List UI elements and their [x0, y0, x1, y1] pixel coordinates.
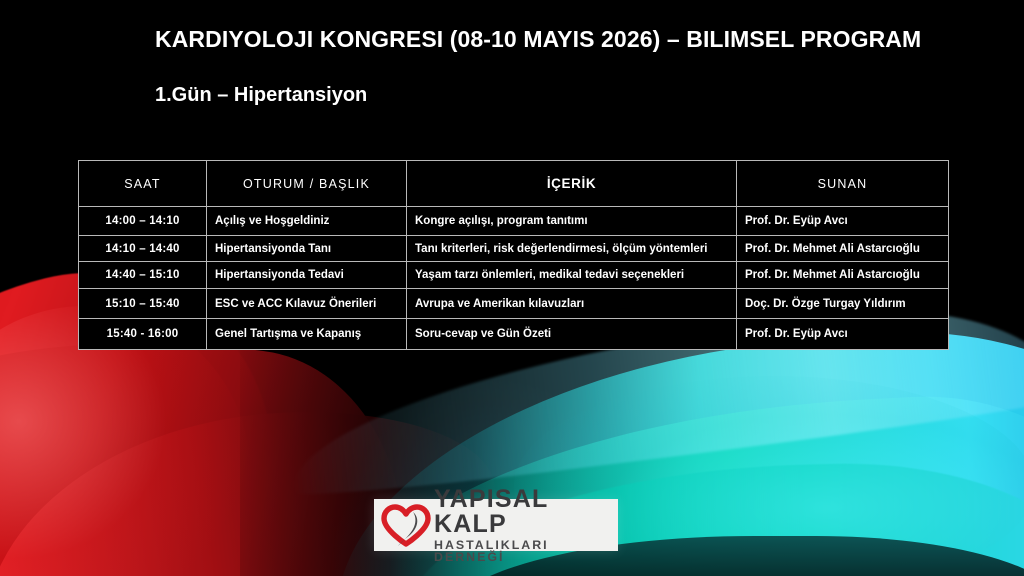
cell-speaker: Doç. Dr. Özge Turgay Yıldırım: [737, 289, 949, 319]
cell-content: Soru-cevap ve Gün Özeti: [407, 319, 737, 350]
cell-session: Genel Tartışma ve Kapanış: [207, 319, 407, 350]
table-row: 15:40 - 16:00 Genel Tartışma ve Kapanış …: [79, 319, 949, 350]
cell-speaker: Prof. Dr. Eyüp Avcı: [737, 207, 949, 236]
cell-session: Hipertansiyonda Tanı: [207, 236, 407, 262]
slide-subtitle: 1.Gün – Hipertansiyon: [155, 84, 367, 107]
logo-title: YAPISAL KALP: [434, 487, 618, 537]
cell-speaker: Prof. Dr. Mehmet Ali Astarcıoğlu: [737, 236, 949, 262]
table-header-row: SAAT OTURUM / BAŞLIK İÇERİK SUNAN: [79, 161, 949, 207]
table-header: SAAT OTURUM / BAŞLIK İÇERİK SUNAN: [79, 161, 949, 207]
cell-time: 14:40 – 15:10: [79, 262, 207, 289]
logo-subtitle: HASTALIKLARI DERNEĞİ: [434, 539, 618, 564]
cell-speaker: Prof. Dr. Mehmet Ali Astarcıoğlu: [737, 262, 949, 289]
cell-session: Hipertansiyonda Tedavi: [207, 262, 407, 289]
cell-content: Avrupa ve Amerikan kılavuzları: [407, 289, 737, 319]
table-row: 14:40 – 15:10 Hipertansiyonda Tedavi Yaş…: [79, 262, 949, 289]
organization-logo: YAPISAL KALP HASTALIKLARI DERNEĞİ: [374, 499, 618, 551]
column-header-session: OTURUM / BAŞLIK: [207, 161, 407, 207]
cell-session: ESC ve ACC Kılavuz Önerileri: [207, 289, 407, 319]
column-header-speaker: SUNAN: [737, 161, 949, 207]
cell-time: 15:10 – 15:40: [79, 289, 207, 319]
table-row: 14:10 – 14:40 Hipertansiyonda Tanı Tanı …: [79, 236, 949, 262]
cell-time: 14:10 – 14:40: [79, 236, 207, 262]
cell-content: Tanı kriterleri, risk değerlendirmesi, ö…: [407, 236, 737, 262]
cell-time: 15:40 - 16:00: [79, 319, 207, 350]
program-table: SAAT OTURUM / BAŞLIK İÇERİK SUNAN 14:00 …: [78, 160, 949, 350]
column-header-time: SAAT: [79, 161, 207, 207]
heart-icon: [380, 503, 432, 547]
program-table-container: SAAT OTURUM / BAŞLIK İÇERİK SUNAN 14:00 …: [78, 160, 948, 350]
table-row: 15:10 – 15:40 ESC ve ACC Kılavuz Önerile…: [79, 289, 949, 319]
slide-title: KARDIYOLOJI KONGRESI (08-10 MAYIS 2026) …: [155, 26, 915, 53]
cell-session: Açılış ve Hoşgeldiniz: [207, 207, 407, 236]
cell-speaker: Prof. Dr. Eyüp Avcı: [737, 319, 949, 350]
cell-content: Kongre açılışı, program tanıtımı: [407, 207, 737, 236]
table-row: 14:00 – 14:10 Açılış ve Hoşgeldiniz Kong…: [79, 207, 949, 236]
table-body: 14:00 – 14:10 Açılış ve Hoşgeldiniz Kong…: [79, 207, 949, 350]
cell-content: Yaşam tarzı önlemleri, medikal tedavi se…: [407, 262, 737, 289]
column-header-content: İÇERİK: [407, 161, 737, 207]
cell-time: 14:00 – 14:10: [79, 207, 207, 236]
presentation-slide: KARDIYOLOJI KONGRESI (08-10 MAYIS 2026) …: [0, 0, 1024, 576]
